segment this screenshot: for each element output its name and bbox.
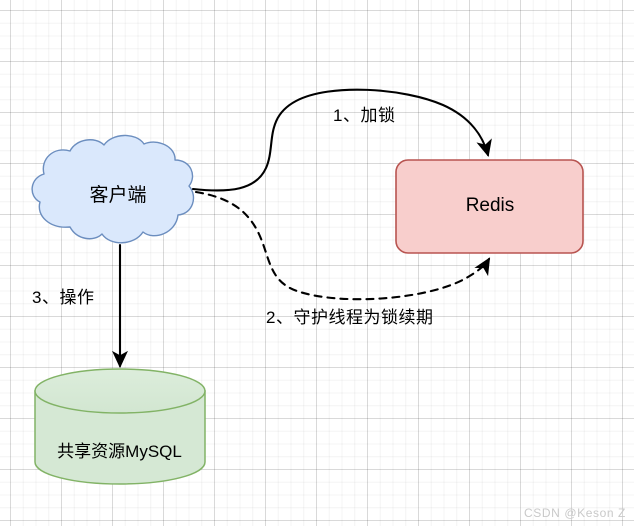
node-client[interactable]: [32, 135, 193, 242]
diagram-vector-layer: [0, 0, 634, 526]
edge-label-renew: 2、守护线程为锁续期: [266, 303, 433, 328]
diagram-canvas: 客户端 Redis 共享资源MySQL 1、加锁 2、守护线程为锁续期 3、操作…: [0, 0, 634, 526]
edge-label-operate: 3、操作: [32, 283, 94, 308]
node-redis[interactable]: [396, 160, 583, 253]
node-mysql[interactable]: [35, 369, 205, 484]
edge-label-lock: 1、加锁: [333, 101, 395, 126]
watermark: CSDN @Keson Z: [524, 506, 626, 520]
